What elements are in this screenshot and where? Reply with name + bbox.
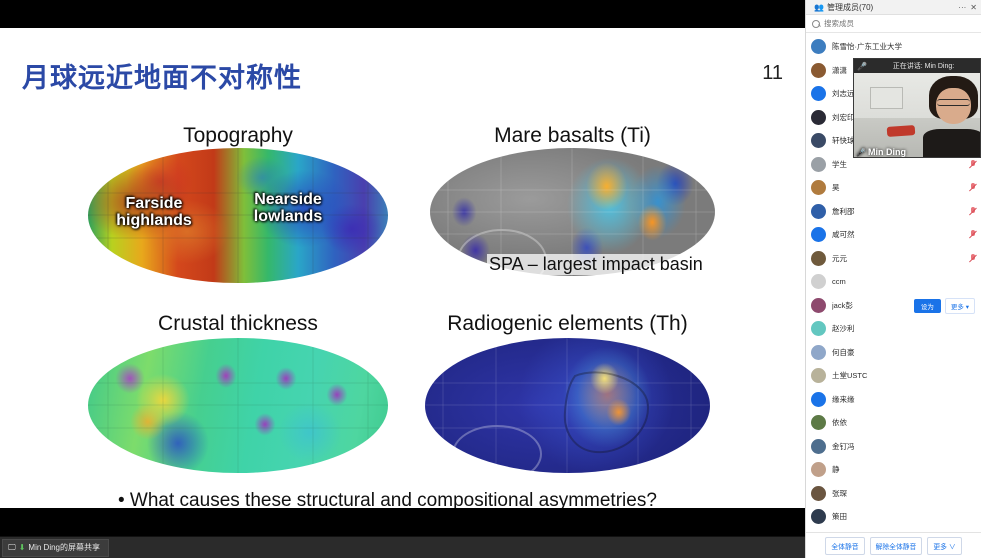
participants-panel-header: 👥 管理成员(70) ··· ✕ [806,0,981,15]
label-farside-line1: Farside [126,195,183,212]
label-spa-basin: SPA – largest impact basin [487,254,705,275]
unmute-all-button[interactable]: 解除全体静音 [870,537,923,555]
participant-row[interactable]: 詹利邵 [806,200,981,224]
person-face [936,88,971,124]
search-input[interactable] [824,19,975,28]
participant-name: 陈雪怡·广东工业大学 [832,41,976,52]
participant-row[interactable]: 策田 [806,505,981,529]
avatar [811,509,826,524]
speaking-label: 正在讲话: Min Ding: [870,61,977,71]
label-farside-line2: highlands [116,212,192,229]
caption-mare-basalts: Mare basalts (Ti) [430,124,715,148]
participant-row[interactable]: 何自豪 [806,341,981,365]
avatar [811,439,826,454]
participant-row[interactable]: ccm [806,270,981,294]
participant-name: ccm [832,277,976,286]
participant-primary-action-button[interactable]: 设为 [914,299,941,313]
participant-name: 元元 [832,253,963,264]
mic-muted-icon[interactable] [969,254,976,263]
participant-name: 依依 [832,417,976,428]
participant-name: 咸可然 [832,229,963,240]
video-name-label: Min Ding [868,147,906,157]
label-nearside-line2: lowlands [254,208,322,225]
participant-row[interactable]: 赵沙利 [806,317,981,341]
avatar [811,251,826,266]
avatar [811,274,826,289]
participant-row[interactable]: 缘来缘 [806,388,981,412]
participant-row[interactable]: 陈雪怡·广东工业大学 [806,35,981,59]
map-crustal-thickness [88,338,388,473]
download-arrow-icon: ⬇ [19,543,26,552]
participant-row[interactable]: 依依 [806,411,981,435]
more-icon[interactable]: ··· [958,3,966,12]
glasses-icon [937,99,969,106]
participant-row[interactable]: 金钉冯 [806,435,981,459]
avatar [811,345,826,360]
self-video-thumbnail[interactable]: 🎤 正在讲话: Min Ding: 🎤 Min Ding [853,58,981,158]
participant-name: 缘来缘 [832,394,976,405]
taskbar: 🖵 ⬇ Min Ding的屏幕共享 [0,536,805,558]
shared-screen-area: 月球远近地面不对称性 11 Topography Farside highlan… [0,0,805,536]
participant-row[interactable]: 张琛 [806,482,981,506]
participant-name: 何自豪 [832,347,976,358]
participant-more-action-button[interactable]: 更多 ▾ [945,298,975,314]
people-icon: 👥 [814,3,824,12]
graticule-crust [88,338,388,473]
avatar [811,180,826,195]
room-projector-screen [870,87,903,109]
participant-name: 学生 [832,159,963,170]
video-name-badge: 🎤 Min Ding [856,147,906,157]
avatar [811,110,826,125]
label-nearside-lowlands: Nearside lowlands [238,192,338,226]
video-thumbnail-header: 🎤 正在讲话: Min Ding: [854,59,980,73]
participant-row-actions: 设为更多 ▾ [914,298,975,314]
mic-muted-icon[interactable] [969,183,976,192]
speaking-icon: 🎤 [857,62,867,71]
video-feed: 🎤 Min Ding [854,73,980,158]
mic-muted-icon[interactable] [969,160,976,169]
avatar [811,298,826,313]
mic-muted-icon[interactable] [969,207,976,216]
more-button[interactable]: 更多 ∨ [927,537,961,555]
letterbox-top [0,0,805,28]
caption-radiogenic-elements: Radiogenic elements (Th) [425,312,710,336]
participant-name: 静 [832,464,976,475]
monitor-icon: 🖵 [8,543,16,553]
presentation-slide: 月球远近地面不对称性 11 Topography Farside highlan… [0,28,805,508]
graticule-th [425,338,710,473]
participant-row[interactable]: 静 [806,458,981,482]
letterbox-bottom [0,508,805,536]
participant-name: 张琛 [832,488,976,499]
avatar [811,204,826,219]
mute-all-button[interactable]: 全体静音 [825,537,864,555]
avatar [811,462,826,477]
participant-row[interactable]: jack彭设为更多 ▾ [806,294,981,318]
participant-row[interactable]: 咸可然 [806,223,981,247]
avatar [811,392,826,407]
avatar [811,63,826,78]
participant-name: 赵沙利 [832,323,976,334]
avatar [811,157,826,172]
participant-name: 策田 [832,511,976,522]
participants-search-bar[interactable] [806,15,981,33]
participant-name: 昊 [832,182,963,193]
participant-name: 詹利邵 [832,206,963,217]
avatar [811,39,826,54]
avatar [811,321,826,336]
avatar [811,133,826,148]
participant-name: 金钉冯 [832,441,976,452]
search-icon [812,20,820,28]
person-figure [925,76,981,158]
taskbar-item-screen-share[interactable]: 🖵 ⬇ Min Ding的屏幕共享 [2,539,109,557]
participant-row[interactable]: 昊 [806,176,981,200]
participants-panel-title: 管理成员(70) [827,2,954,13]
caption-crustal-thickness: Crustal thickness [88,312,388,336]
mic-muted-icon[interactable] [969,230,976,239]
participant-row[interactable]: 土堂USTC [806,364,981,388]
map-radiogenic-elements [425,338,710,473]
app-root: 月球远近地面不对称性 11 Topography Farside highlan… [0,0,981,558]
mic-on-icon: 🎤 [856,148,866,157]
label-nearside-line1: Nearside [254,191,322,208]
avatar [811,368,826,383]
avatar [811,227,826,242]
participant-name: 土堂USTC [832,370,976,381]
slide-title: 月球远近地面不对称性 [22,56,302,95]
participants-footer: 全体静音 解除全体静音 更多 ∨ [806,532,981,558]
avatar [811,415,826,430]
close-icon[interactable]: ✕ [970,3,977,12]
person-body [923,129,981,158]
taskbar-item-label: Min Ding的屏幕共享 [28,542,100,553]
caption-topography: Topography [88,124,388,148]
slide-bullet-question: • What causes these structural and compo… [118,490,657,508]
avatar [811,486,826,501]
label-farside-highlands: Farside highlands [108,196,200,230]
participant-row[interactable]: 元元 [806,247,981,271]
slide-number: 11 [762,62,783,85]
avatar [811,86,826,101]
